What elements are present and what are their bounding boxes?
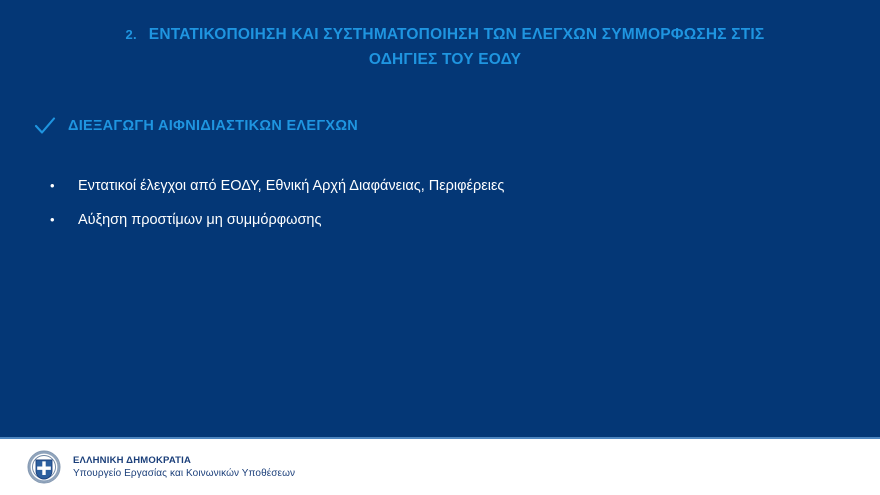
bullet-text: Αύξηση προστίμων μη συμμόρφωσης — [78, 210, 321, 230]
greek-coat-of-arms-icon — [27, 450, 61, 484]
slide-footer: ΕΛΛΗΝΙΚΗ ΔΗΜΟΚΡΑΤΙΑ Υπουργείο Εργασίας κ… — [0, 439, 880, 495]
check-icon — [34, 116, 56, 136]
footer-subtitle: Υπουργείο Εργασίας και Κοινωνικών Υποθέσ… — [73, 467, 295, 481]
bullet-marker: • — [50, 210, 78, 230]
page-title: 2.ΕΝΤΑΤΙΚΟΠΟΙΗΣΗ ΚΑΙ ΣΥΣΤΗΜΑΤΟΠΟΙΗΣΗ ΤΩΝ… — [60, 22, 830, 72]
title-line-2: ΟΔΗΓΙΕΣ ΤΟΥ ΕΟΔΥ — [60, 47, 830, 72]
footer-text-block: ΕΛΛΗΝΙΚΗ ΔΗΜΟΚΡΑΤΙΑ Υπουργείο Εργασίας κ… — [73, 454, 295, 481]
title-line-1: 2.ΕΝΤΑΤΙΚΟΠΟΙΗΣΗ ΚΑΙ ΣΥΣΤΗΜΑΤΟΠΟΙΗΣΗ ΤΩΝ… — [60, 22, 830, 47]
section-heading: ΔΙΕΞΑΓΩΓΗ ΑΙΦΝΙΔΙΑΣΤΙΚΩΝ ΕΛΕΓΧΩΝ — [34, 116, 358, 136]
footer-title: ΕΛΛΗΝΙΚΗ ΔΗΜΟΚΡΑΤΙΑ — [73, 454, 295, 467]
bullet-marker: • — [50, 176, 78, 196]
list-item: • Εντατικοί έλεγχοι από ΕΟΔΥ, Εθνική Αρχ… — [50, 176, 820, 196]
section-heading-label: ΔΙΕΞΑΓΩΓΗ ΑΙΦΝΙΔΙΑΣΤΙΚΩΝ ΕΛΕΓΧΩΝ — [68, 118, 358, 134]
bullet-text: Εντατικοί έλεγχοι από ΕΟΔΥ, Εθνική Αρχή … — [78, 176, 504, 196]
presentation-slide: 2.ΕΝΤΑΤΙΚΟΠΟΙΗΣΗ ΚΑΙ ΣΥΣΤΗΜΑΤΟΠΟΙΗΣΗ ΤΩΝ… — [0, 0, 880, 495]
bullet-list: • Εντατικοί έλεγχοι από ΕΟΔΥ, Εθνική Αρχ… — [50, 176, 820, 244]
title-text-line-1: ΕΝΤΑΤΙΚΟΠΟΙΗΣΗ ΚΑΙ ΣΥΣΤΗΜΑΤΟΠΟΙΗΣΗ ΤΩΝ Ε… — [149, 26, 765, 43]
title-number: 2. — [126, 22, 137, 47]
list-item: • Αύξηση προστίμων μη συμμόρφωσης — [50, 210, 820, 230]
